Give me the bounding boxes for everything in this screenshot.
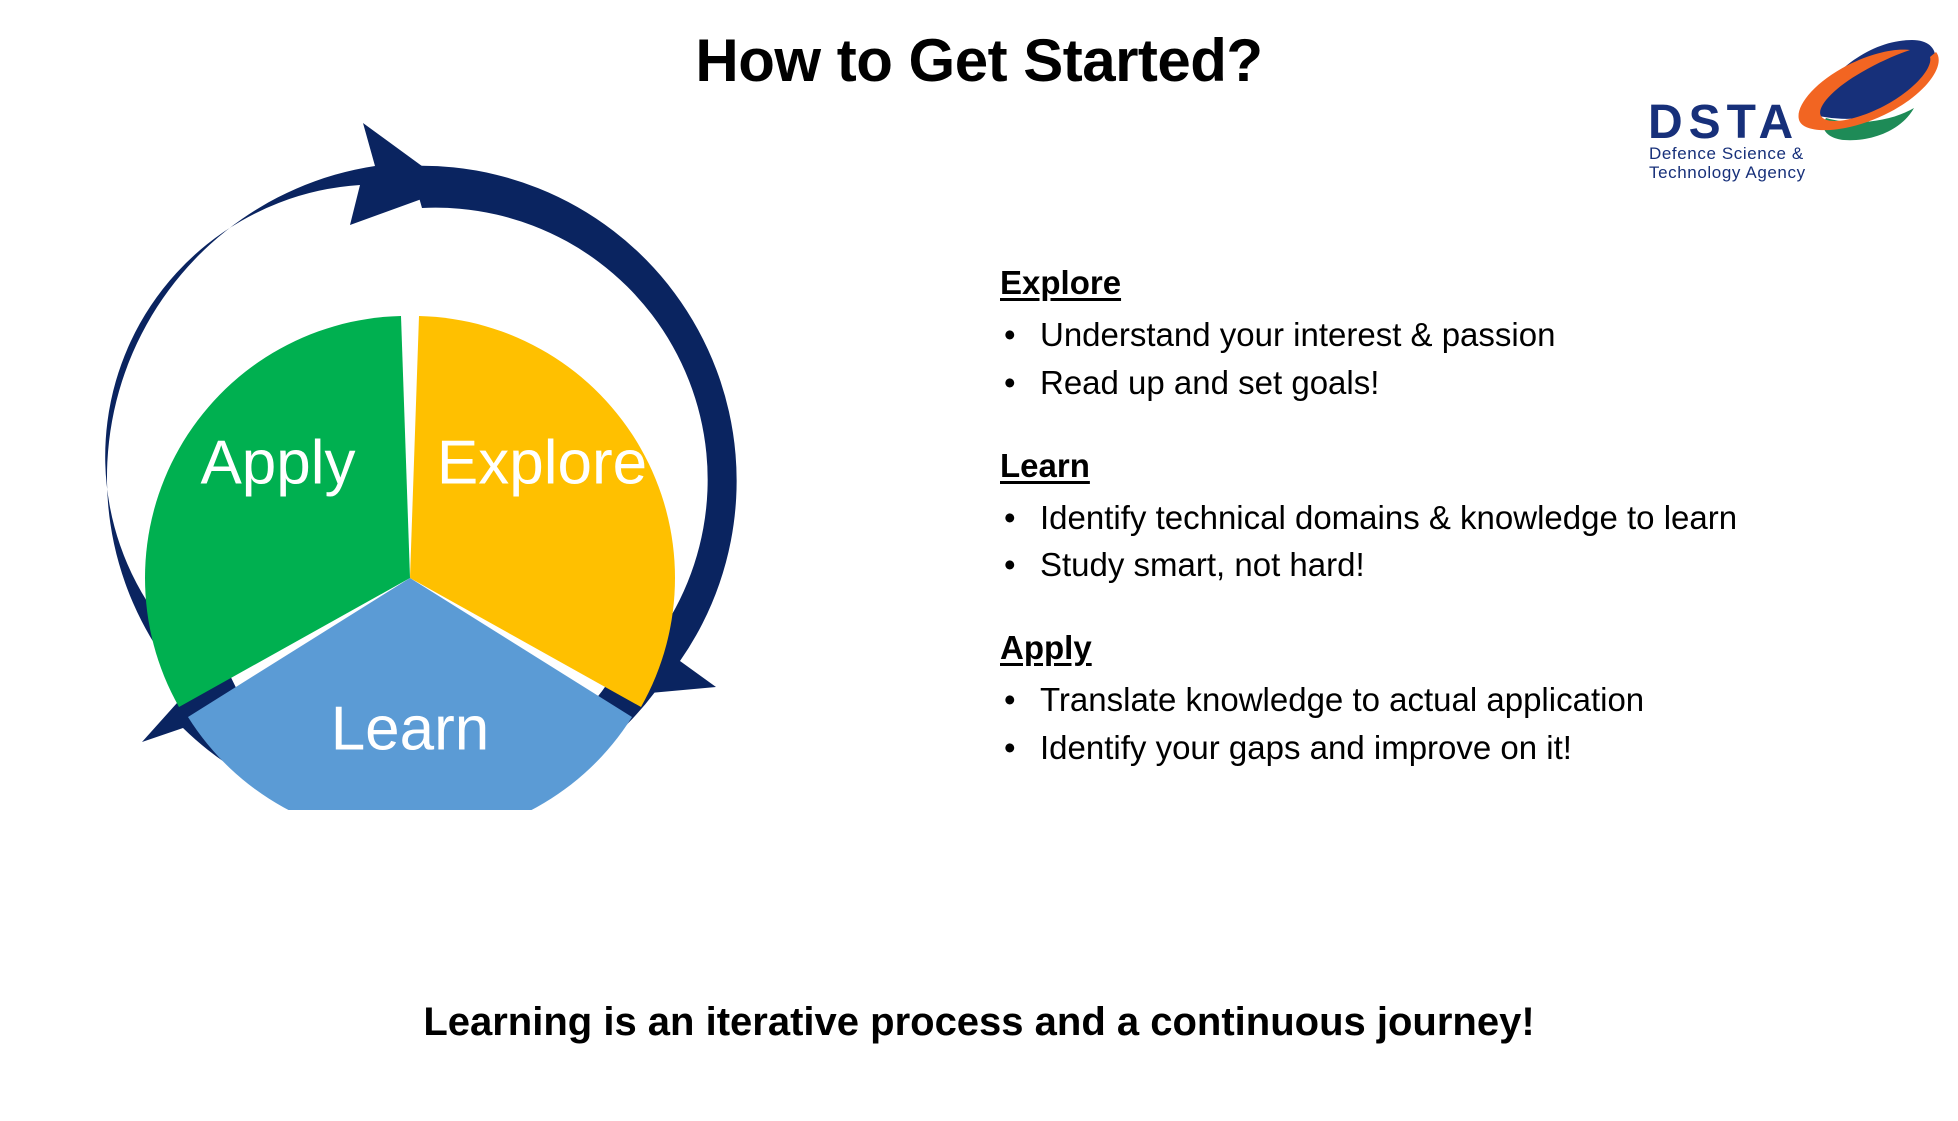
logo-tagline-line2: Technology Agency [1649,163,1806,182]
cycle-diagram: Apply Explore Learn [80,110,940,810]
bullet-text: Identify your gaps and improve on it! [1040,726,1572,770]
footer-caption: Learning is an iterative process and a c… [0,1000,1958,1045]
bullet-text: Study smart, not hard! [1040,543,1365,587]
list-item: • Study smart, not hard! [1000,543,1900,587]
bullet-text: Read up and set goals! [1040,361,1379,405]
cycle-label-learn: Learn [331,694,490,763]
dsta-logo: DSTA Defence Science & Technology Agency [1640,18,1940,183]
detail-heading-learn: Learn [1000,445,1900,488]
detail-group-explore: Explore • Understand your interest & pas… [1000,262,1900,405]
bullet-icon: • [1000,361,1040,405]
list-item: • Translate knowledge to actual applicat… [1000,678,1900,722]
list-item: • Understand your interest & passion [1000,313,1900,357]
detail-group-learn: Learn • Identify technical domains & kno… [1000,445,1900,588]
slide-canvas: How to Get Started? DSTA Defence Science… [0,0,1958,1121]
detail-group-apply: Apply • Translate knowledge to actual ap… [1000,627,1900,770]
bullet-icon: • [1000,726,1040,770]
bullet-icon: • [1000,543,1040,587]
details-column: Explore • Understand your interest & pas… [1000,262,1900,774]
bullet-text: Translate knowledge to actual applicatio… [1040,678,1644,722]
logo-tagline-line1: Defence Science & [1649,144,1804,163]
logo-swoosh-icon [1799,40,1939,140]
bullet-icon: • [1000,313,1040,357]
logo-wordmark: DSTA [1648,96,1799,149]
detail-heading-apply: Apply [1000,627,1900,670]
list-item: • Read up and set goals! [1000,361,1900,405]
cycle-label-apply: Apply [200,428,355,497]
bullet-text: Identify technical domains & knowledge t… [1040,496,1737,540]
cycle-label-explore: Explore [437,428,647,497]
detail-heading-explore: Explore [1000,262,1900,305]
bullet-icon: • [1000,678,1040,722]
list-item: • Identify your gaps and improve on it! [1000,726,1900,770]
bullet-text: Understand your interest & passion [1040,313,1555,357]
list-item: • Identify technical domains & knowledge… [1000,496,1900,540]
bullet-icon: • [1000,496,1040,540]
